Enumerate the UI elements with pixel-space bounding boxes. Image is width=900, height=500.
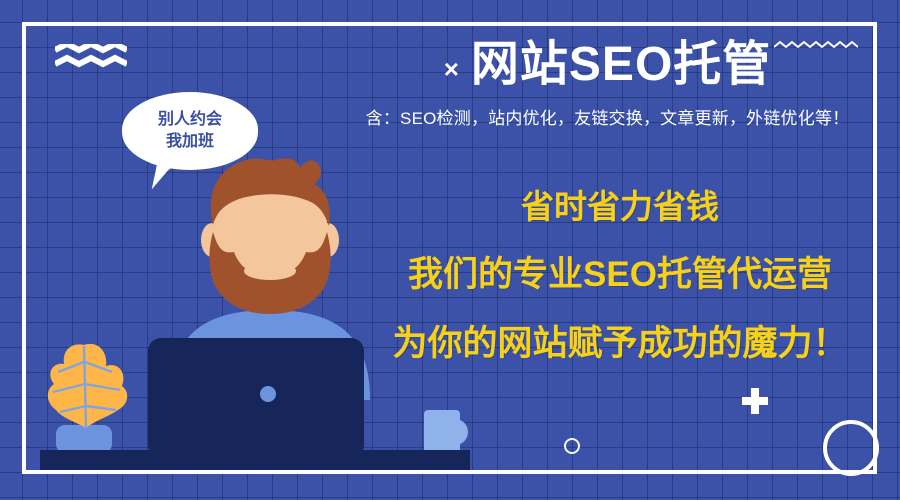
slogan-line-1: 省时省力省钱 [360, 190, 880, 223]
circle-outline-icon [564, 438, 580, 454]
person-hair [211, 158, 330, 226]
speech-bubble-line-1: 别人约会 [158, 109, 222, 131]
person-shirt [170, 310, 370, 400]
zigzag-thick-icon [55, 44, 127, 70]
slogan-line-3: 为你的网站赋予成功的魔力！ [360, 326, 880, 361]
person-ear-left [201, 223, 223, 257]
plant-leaf-veins [53, 346, 120, 428]
page-subtitle: 含：SEO检测，站内优化，友链交换，文章更新，外链优化等！ [330, 104, 885, 129]
headline-block: × 网站SEO托管 含：SEO检测，站内优化，友链交换，文章更新，外链优化等！ [330, 38, 885, 129]
laptop-screen-back [148, 338, 364, 458]
person-mouth [244, 262, 296, 280]
person-beard [209, 232, 330, 314]
person-neck [249, 275, 291, 323]
plant-leaf [48, 344, 127, 428]
coffee-mug-handle [456, 420, 468, 444]
page-title: 网站SEO托管 [471, 38, 771, 92]
person-face [213, 170, 327, 300]
desk-surface [40, 450, 470, 472]
slogan-block: 省时省力省钱 我们的专业SEO托管代运营 为你的网站赋予成功的魔力！ [360, 190, 880, 361]
corner-circle-icon [823, 420, 879, 476]
speech-bubble-line-2: 我加班 [166, 131, 214, 153]
plant-pot [56, 425, 112, 453]
seo-promo-banner: 别人约会 我加班 × 网站SEO托管 含：SEO检测，站内优化，友链交换，文章更… [0, 0, 900, 500]
coffee-mug-body [424, 410, 460, 455]
speech-bubble: 别人约会 我加班 [122, 92, 258, 170]
title-row: × 网站SEO托管 [330, 38, 885, 92]
laptop-logo [260, 386, 276, 402]
plus-icon [742, 388, 768, 414]
slogan-line-2: 我们的专业SEO托管代运营 [360, 257, 880, 292]
title-bullet-x-icon: × [444, 56, 459, 82]
person-ear-right [317, 223, 339, 257]
